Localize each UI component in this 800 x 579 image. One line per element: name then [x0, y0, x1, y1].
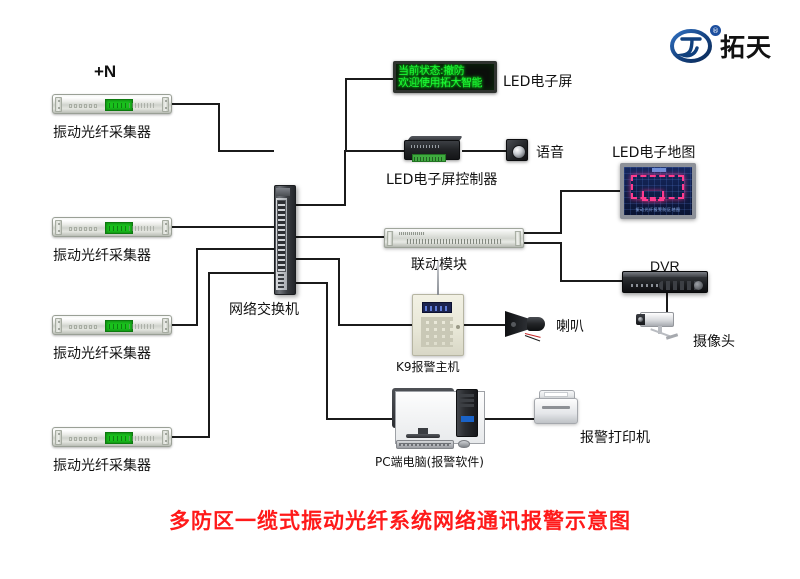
linkage-marking-icon — [399, 232, 425, 235]
collector-2-label: 振动光纤采集器 — [53, 245, 151, 265]
camera-label: 摄像头 — [693, 331, 735, 351]
camera-body-icon — [640, 312, 674, 327]
tower-drive-bay-icon — [460, 394, 474, 408]
wire-ledctrl-to-screen-v — [345, 78, 347, 150]
wire-switch-to-ledctrl-h1 — [296, 204, 346, 206]
antenna-icon — [437, 261, 439, 295]
wire-collector1-to-switch — [218, 150, 274, 152]
led-screen-controller-label: LED电子屏控制器 — [386, 169, 497, 189]
vent-icon — [129, 103, 155, 108]
collector-1-label: 振动光纤采集器 — [53, 122, 151, 142]
wire-switch-to-pc-h2 — [326, 418, 392, 420]
wire-linkage-to-map-h1 — [524, 232, 562, 234]
pc-workstation[interactable] — [392, 388, 488, 450]
linkage-module-label: 联动模块 — [411, 254, 467, 274]
printer-paper-icon — [544, 392, 568, 397]
linkage-module[interactable] — [384, 228, 524, 248]
wire-switch-to-pc-h1 — [296, 282, 328, 284]
k9-alarm-host[interactable] — [412, 294, 464, 356]
status-leds-icon — [69, 227, 97, 231]
pc-tower-icon — [456, 389, 478, 437]
k9-alarm-host-label: K9报警主机 — [396, 358, 460, 375]
registered-trademark-icon: ® — [710, 25, 721, 36]
wire-collector4-to-switch — [208, 272, 274, 274]
horn-label: 喇叭 — [556, 316, 584, 336]
rack-ear-icon — [162, 97, 169, 112]
status-leds-icon — [69, 325, 97, 329]
controller-pins-icon — [411, 145, 441, 148]
dvr-buttons-icon — [659, 281, 699, 290]
k9-keypad-icon — [421, 317, 453, 347]
horn-speaker[interactable] — [505, 311, 549, 337]
dvr-jog-knob-icon — [694, 281, 703, 290]
vent-icon — [129, 226, 155, 231]
k9-display-icon — [422, 302, 452, 313]
camera-device[interactable] — [636, 310, 688, 344]
linkage-terminal-strip-icon — [407, 239, 501, 244]
mouse-icon — [458, 440, 470, 448]
rack-ear-icon — [162, 430, 169, 445]
collector-3-label: 振动光纤采集器 — [53, 343, 151, 363]
led-electronic-screen-label: LED电子屏 — [503, 71, 572, 91]
rack-ear-icon — [387, 231, 393, 246]
dvr-top-icon — [623, 272, 707, 277]
wire-linkage-to-dvr-h1 — [524, 242, 562, 244]
map-caption: 振动光纤报警防区地图 — [624, 207, 692, 213]
rack-ear-icon — [515, 231, 521, 246]
keyboard-icon — [396, 440, 454, 449]
rack-ear-icon — [55, 220, 62, 235]
led-screen-line-2: 欢迎使用拓大智能 — [398, 77, 482, 89]
wire-switch-to-k9-h1 — [296, 258, 340, 260]
switch-indicator-icon — [278, 274, 284, 288]
wire-collector2-h — [172, 226, 274, 228]
wire-switch-to-ledctrl-h2 — [344, 150, 404, 152]
monitor-base-icon — [406, 434, 440, 438]
status-leds-icon — [69, 104, 97, 108]
wire-switch-to-k9-v — [338, 258, 340, 326]
controller-terminal-icon — [412, 154, 446, 162]
horn-center-icon — [511, 322, 516, 327]
collector-4-label: 振动光纤采集器 — [53, 455, 151, 475]
plus-n-label: +N — [94, 62, 116, 82]
switch-ports-icon — [277, 200, 286, 272]
wire-collector3-to-switch — [196, 248, 274, 250]
wire-linkage-to-dvr-v — [560, 242, 562, 282]
vibration-fiber-collector-1[interactable] — [52, 94, 172, 114]
wire-ledctrl-to-screen-h — [345, 78, 395, 80]
horn-wires-icon — [525, 332, 545, 338]
tuotian-logo-icon: ® — [670, 26, 714, 66]
wire-switch-to-pc-v — [326, 282, 328, 420]
wire-linkage-to-map-h2 — [560, 190, 620, 192]
diagram-title: 多防区一缆式振动光纤系统网络通讯报警示意图 — [0, 505, 800, 535]
wire-ledctrl-to-voice — [462, 150, 506, 152]
rack-ear-icon — [55, 318, 62, 333]
led-electronic-map-label: LED电子地图 — [612, 142, 695, 162]
switch-top-icon — [276, 188, 290, 196]
wire-switch-to-k9-h2 — [338, 324, 412, 326]
vent-icon — [129, 324, 155, 329]
alarm-printer-label: 报警打印机 — [580, 427, 650, 447]
rack-ear-icon — [162, 318, 169, 333]
voice-label: 语音 — [536, 142, 564, 162]
camera-lens-icon — [636, 314, 645, 325]
brand-logo: ® 拓天 — [670, 26, 772, 66]
network-switch[interactable] — [274, 185, 296, 295]
wire-linkage-to-map-v — [560, 190, 562, 234]
wire-switch-to-ledctrl-v — [344, 150, 346, 206]
rack-ear-icon — [162, 220, 169, 235]
vibration-fiber-collector-3[interactable] — [52, 315, 172, 335]
network-switch-label: 网络交换机 — [229, 299, 299, 319]
pc-label: PC端电脑(报警软件) — [375, 453, 484, 470]
wire-switch-to-linkage — [296, 236, 384, 238]
voice-module[interactable] — [506, 139, 528, 161]
map-header-icon — [652, 168, 666, 172]
wire-collector4-v — [208, 272, 210, 438]
rack-ear-icon — [55, 430, 62, 445]
wire-linkage-to-dvr-h2 — [560, 280, 622, 282]
vibration-fiber-collector-2[interactable] — [52, 217, 172, 237]
wire-collector4-h — [172, 436, 210, 438]
led-electronic-map[interactable]: 振动光纤报警防区地图 — [620, 163, 696, 219]
alarm-printer[interactable] — [534, 390, 578, 424]
k9-indicator-icon — [456, 325, 460, 329]
vent-icon — [129, 436, 155, 441]
brand-name: 拓天 — [720, 28, 772, 64]
printer-output-slot-icon — [542, 406, 570, 409]
map-zone-notch-icon — [642, 191, 664, 201]
horn-barrel-icon — [527, 317, 545, 331]
led-electronic-screen[interactable]: 当前状态:撤防 欢迎使用拓大智能 — [393, 61, 497, 93]
wire-collector3-v — [196, 248, 198, 326]
dvr-device[interactable] — [622, 271, 708, 293]
vibration-fiber-collector-4[interactable] — [52, 427, 172, 447]
printer-body-icon — [534, 398, 578, 424]
wire-collector1-h — [172, 103, 220, 105]
led-screen-controller[interactable] — [404, 136, 462, 162]
status-leds-icon — [69, 437, 97, 441]
wire-k9-to-horn — [464, 324, 508, 326]
wire-collector3-h — [172, 324, 198, 326]
rack-ear-icon — [55, 97, 62, 112]
tower-power-led-icon — [461, 416, 474, 422]
wire-collector1-v — [218, 103, 220, 152]
diagram-canvas: +N 振动光纤采集器 振动光纤采集器 振动光纤采集器 振动光纤采集器 — [0, 0, 800, 579]
